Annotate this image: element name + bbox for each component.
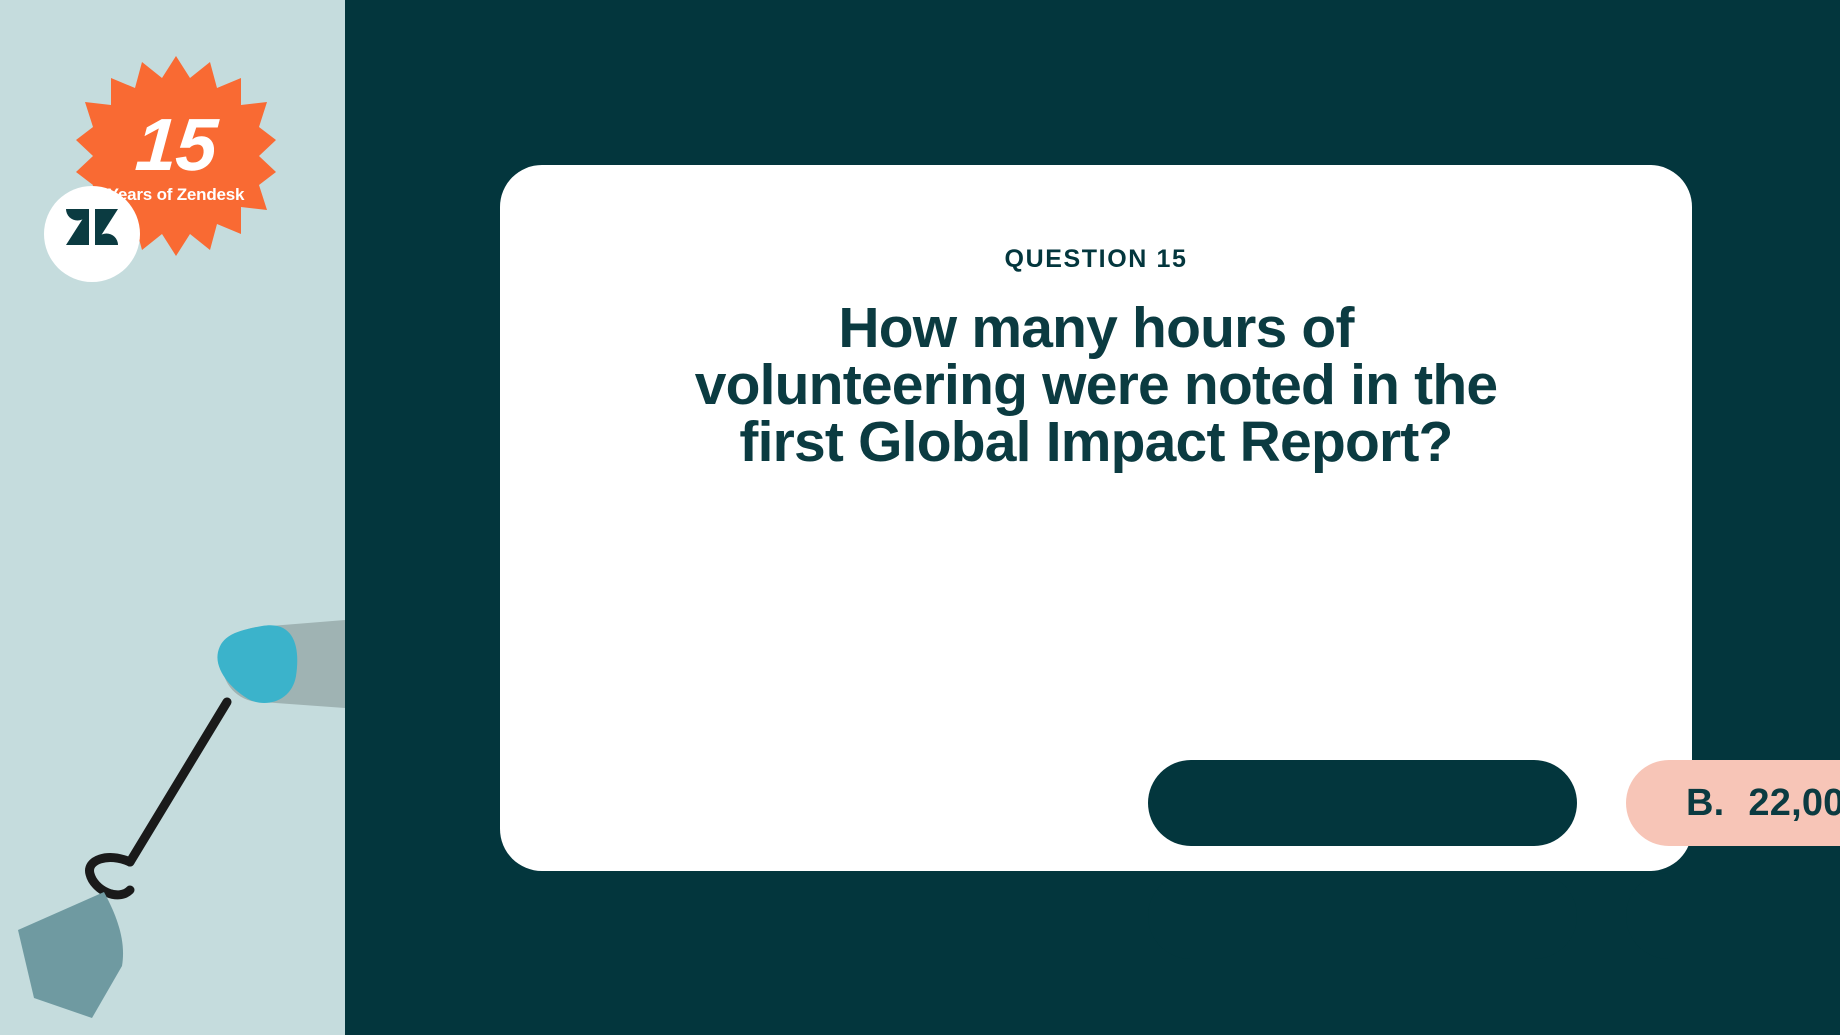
litter-picker-illustration	[0, 590, 345, 1035]
question-label: QUESTION 15	[500, 245, 1692, 274]
decorative-sidebar: 15 Years of Zendesk	[0, 0, 345, 1035]
question-title-line-1: How many hours of	[596, 300, 1596, 357]
zendesk-logo-icon	[66, 209, 118, 259]
answer-option-1[interactable]	[1148, 760, 1577, 846]
slide-stage: 15 Years of Zendesk	[0, 0, 1840, 1035]
zendesk-logo	[44, 186, 140, 282]
question-title-line-3: first Global Impact Report?	[596, 414, 1596, 471]
answer-option-2[interactable]: B. 22,000	[1626, 760, 1840, 846]
litter-picker-icon	[0, 590, 345, 1035]
answer-option-2-letter: B.	[1686, 782, 1724, 825]
question-title-line-2: volunteering were noted in the	[596, 357, 1596, 414]
question-title: How many hours of volunteering were note…	[596, 300, 1596, 471]
answer-option-2-text: 22,000	[1748, 782, 1840, 825]
quiz-card: QUESTION 15 How many hours of volunteeri…	[500, 165, 1692, 871]
answer-option-4[interactable]	[1626, 873, 1840, 959]
answer-option-3[interactable]	[1148, 873, 1577, 959]
badge-number: 15	[73, 108, 278, 182]
